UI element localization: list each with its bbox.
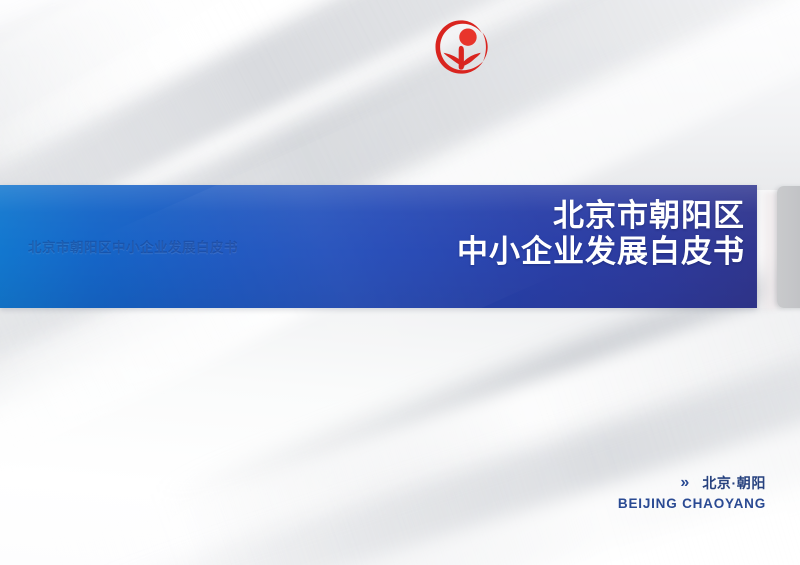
- page-title-line-2: 中小企业发展白皮书: [457, 234, 745, 270]
- footer-brand-name-cn: 北京·朝阳: [702, 473, 766, 493]
- page-tab-icon[interactable]: [777, 186, 800, 308]
- background-top-tint: [0, 0, 800, 190]
- background-bottom-tint: [0, 308, 800, 565]
- page-title-line-1: 北京市朝阳区: [457, 198, 745, 234]
- chaoyang-emblem-icon: [432, 18, 490, 76]
- report-cover: 北京市朝阳区中小企业发展白皮书 北京市朝阳区 中小企业发展白皮书 » 北京·朝阳…: [0, 0, 800, 565]
- title-band-watermark: 北京市朝阳区中小企业发展白皮书: [28, 236, 238, 256]
- footer-brand-row: » 北京·朝阳: [618, 473, 766, 493]
- footer-brand-name-en: BEIJING CHAOYANG: [618, 496, 766, 511]
- double-chevron-right-icon: »: [680, 475, 688, 491]
- page-title: 北京市朝阳区 中小企业发展白皮书: [457, 198, 745, 270]
- footer-brand: » 北京·朝阳 BEIJING CHAOYANG: [618, 473, 766, 511]
